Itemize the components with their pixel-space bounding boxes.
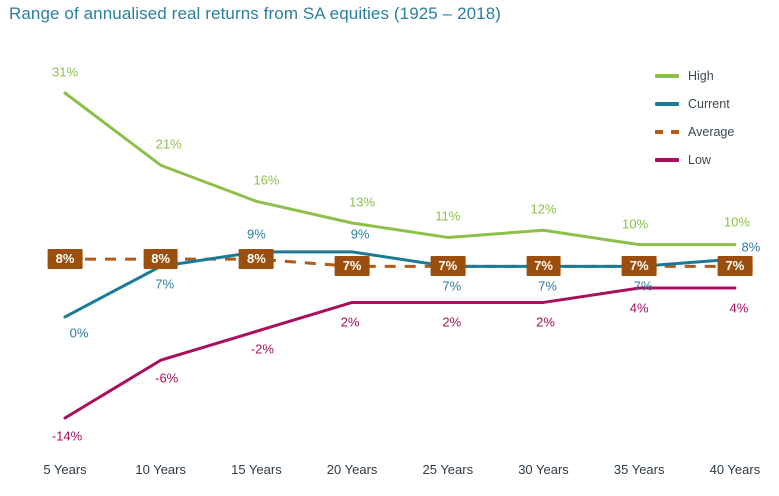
x-axis: 5 Years10 Years15 Years20 Years25 Years3… xyxy=(0,462,779,486)
x-axis-tick-5: 25 Years xyxy=(422,462,473,477)
line-swatch-icon xyxy=(655,158,679,162)
legend-label-current: Current xyxy=(688,97,730,111)
legend-item-average[interactable]: Average xyxy=(655,118,779,146)
chart-container: Range of annualised real returns from SA… xyxy=(0,0,779,496)
legend-item-high[interactable]: High xyxy=(655,62,779,90)
dashed-line-swatch-icon xyxy=(655,130,679,134)
x-axis-tick-6: 30 Years xyxy=(518,462,569,477)
x-axis-tick-2: 10 Years xyxy=(135,462,186,477)
data-label-average-5: 7% xyxy=(430,256,465,276)
series-low-line xyxy=(65,288,735,418)
data-label-average-2: 8% xyxy=(143,249,178,269)
x-axis-tick-1: 5 Years xyxy=(43,462,86,477)
data-label-average-7: 7% xyxy=(622,256,657,276)
legend-label-average: Average xyxy=(688,125,734,139)
x-axis-tick-7: 35 Years xyxy=(614,462,665,477)
data-label-average-6: 7% xyxy=(526,256,561,276)
series-high-line xyxy=(65,93,735,245)
legend-label-low: Low xyxy=(688,153,711,167)
data-label-average-1: 8% xyxy=(48,249,83,269)
data-label-average-3: 8% xyxy=(239,249,274,269)
x-axis-tick-8: 40 Years xyxy=(710,462,761,477)
line-swatch-icon xyxy=(655,102,679,106)
x-axis-tick-3: 15 Years xyxy=(231,462,282,477)
chart-legend: High Current Average Low xyxy=(655,62,779,174)
x-axis-tick-4: 20 Years xyxy=(327,462,378,477)
legend-item-low[interactable]: Low xyxy=(655,146,779,174)
legend-item-current[interactable]: Current xyxy=(655,90,779,118)
data-label-average-4: 7% xyxy=(335,256,370,276)
legend-label-high: High xyxy=(688,69,714,83)
data-label-average-8: 7% xyxy=(717,256,752,276)
line-swatch-icon xyxy=(655,74,679,78)
